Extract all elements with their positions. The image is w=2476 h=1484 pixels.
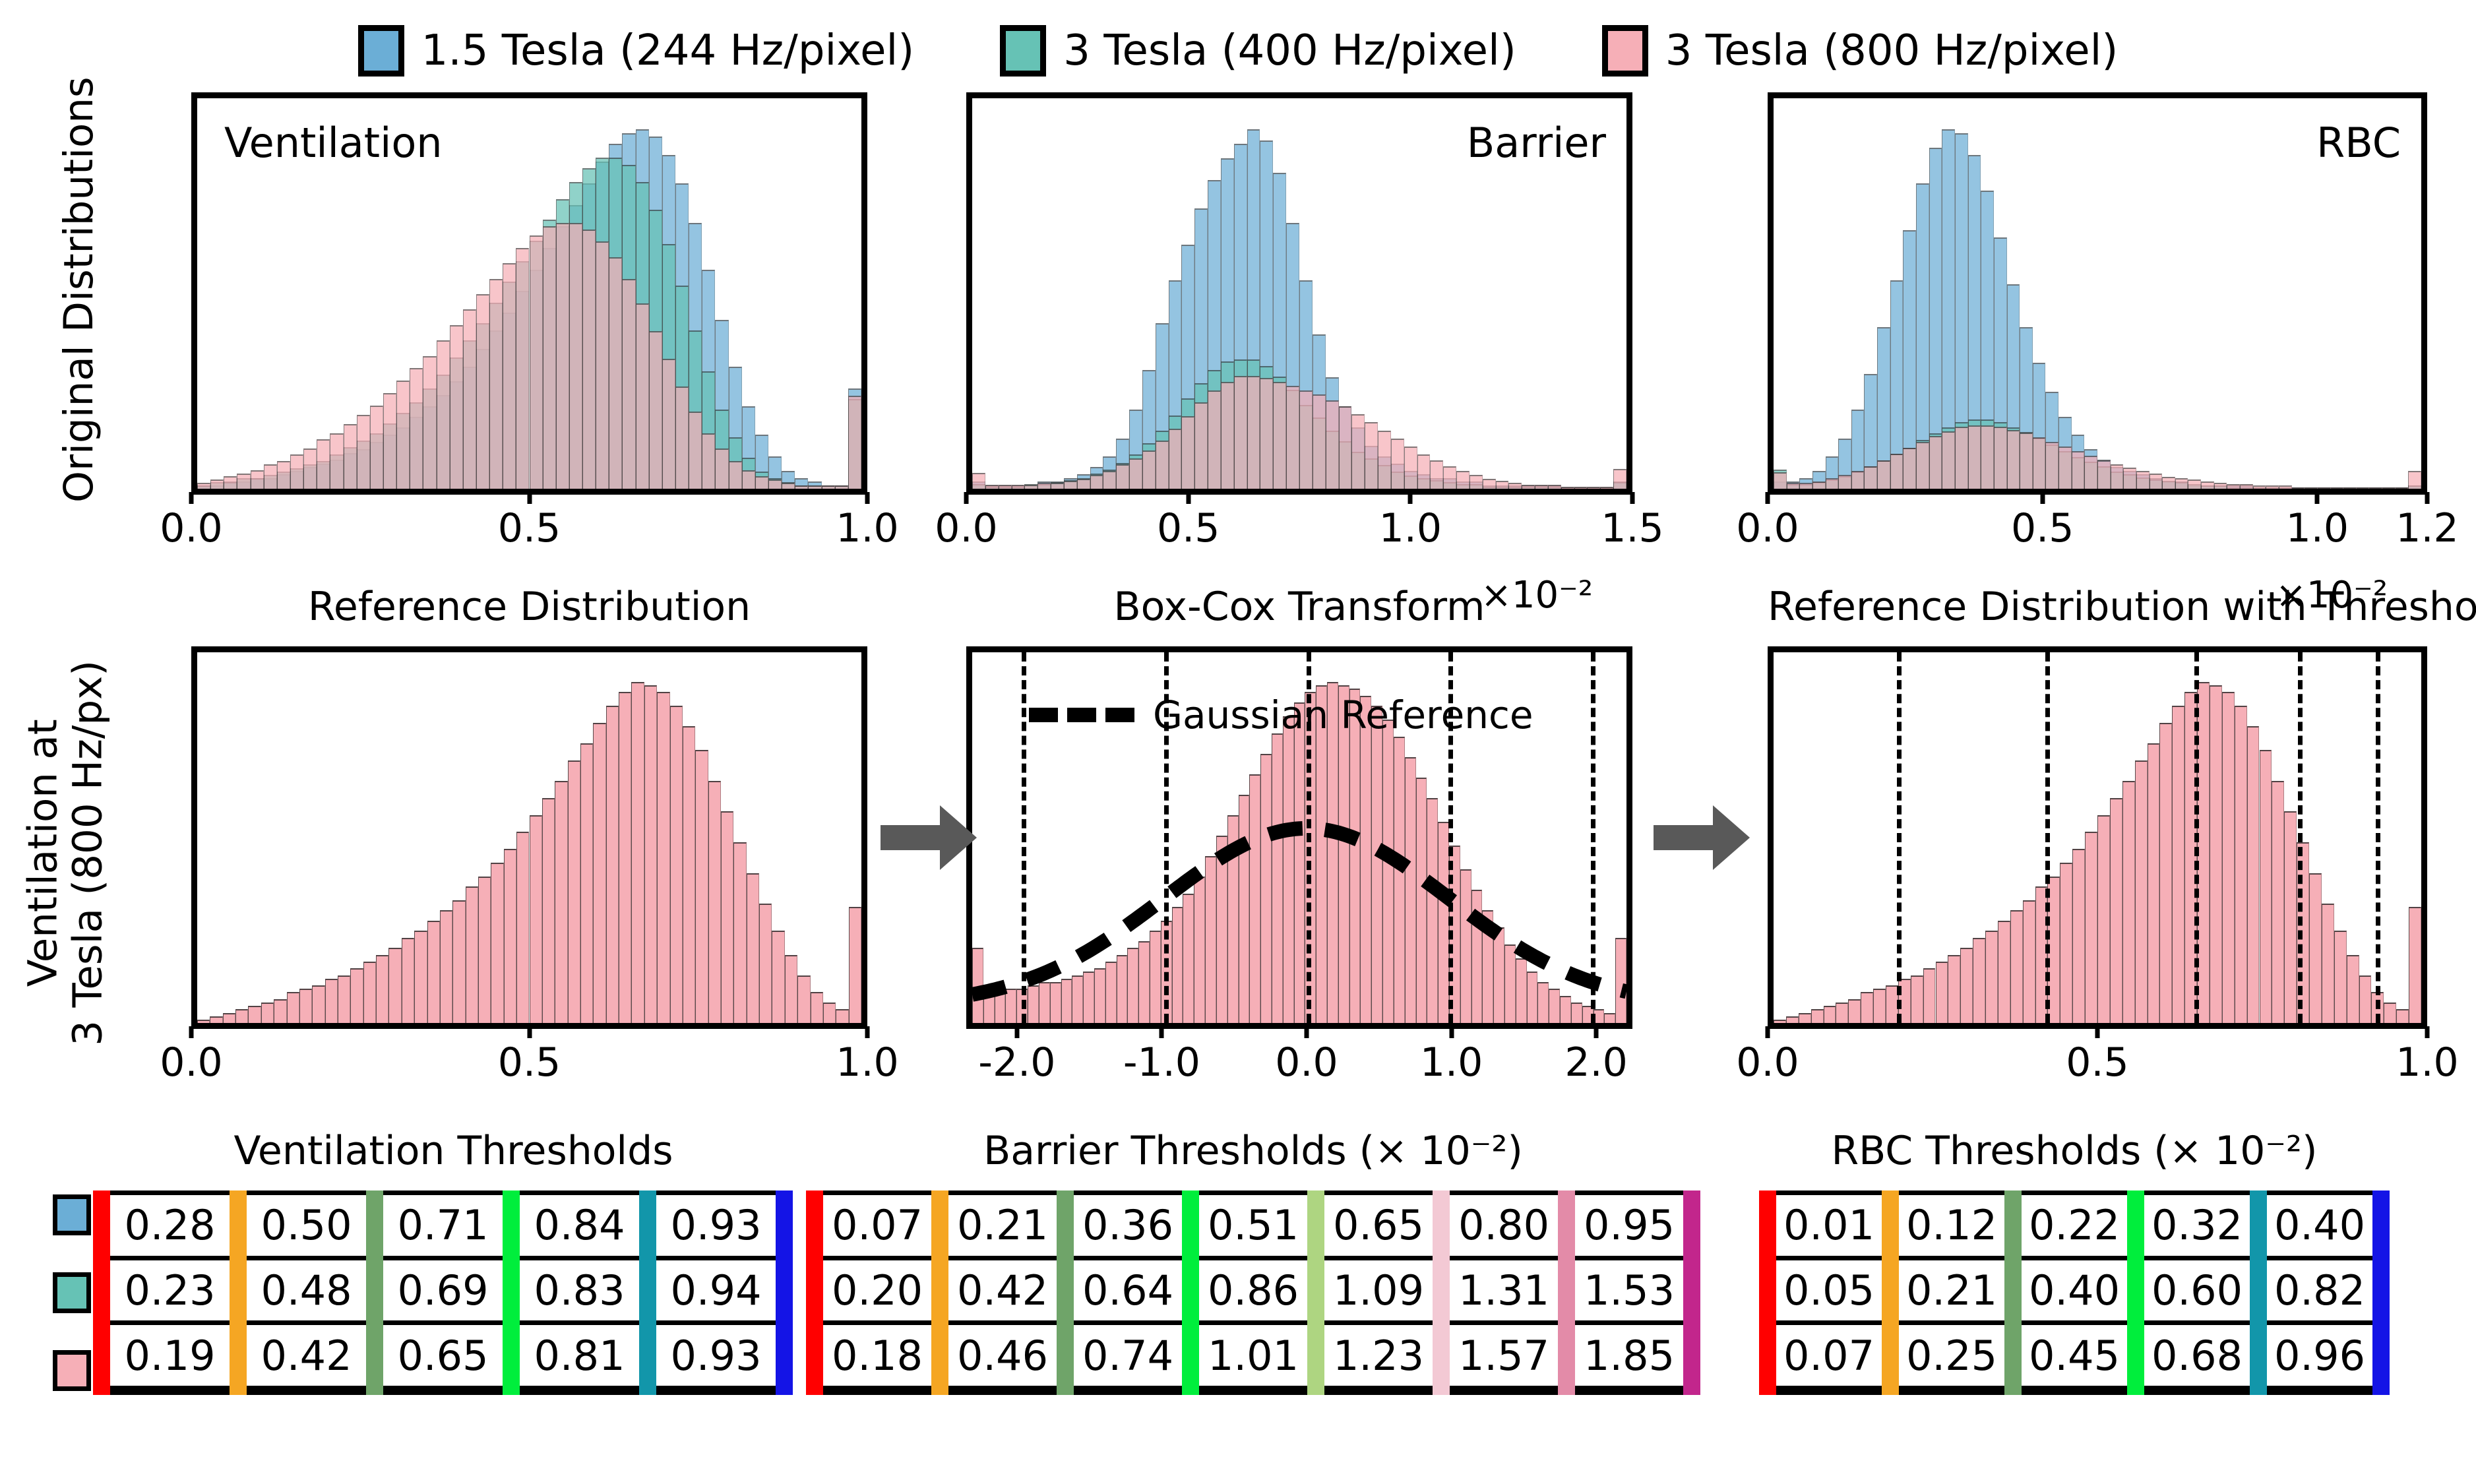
axis-tick <box>865 1026 870 1038</box>
threshold-table-rbc: 0.010.120.220.320.400.050.210.400.600.82… <box>1768 1190 2381 1395</box>
histogram-bar <box>822 485 835 489</box>
table-cell: 0.83 <box>511 1260 648 1321</box>
table-row-swatch-0 <box>53 1194 91 1235</box>
histogram-bar <box>619 692 631 1023</box>
histogram-bar <box>504 849 516 1023</box>
histogram-bar <box>2331 487 2344 489</box>
histogram-bar <box>210 1016 222 1023</box>
histogram-bar <box>675 386 689 489</box>
histogram-bar <box>277 461 290 489</box>
axis-tick <box>1408 492 1413 504</box>
histogram-bar <box>325 979 338 1023</box>
histogram-bar <box>1812 481 1826 489</box>
histogram-bar <box>1351 414 1365 489</box>
table-row: 0.070.250.450.680.96 <box>1768 1325 2381 1390</box>
histogram-bar <box>2227 484 2240 489</box>
bin-color-bar-1 <box>230 1190 247 1395</box>
histogram-bar <box>248 1006 261 1023</box>
histogram-bar <box>1774 472 1787 489</box>
histogram-bar <box>2110 798 2122 1023</box>
flow-arrow-2 <box>1652 801 1751 874</box>
histogram-bar <box>2111 464 2124 489</box>
histogram-bar <box>631 682 644 1023</box>
histogram-bar <box>1234 376 1247 489</box>
histogram-bar <box>1064 481 1077 489</box>
row-label-ventilation-3t800: Ventilation at 3 Tesla (800 Hz/px) <box>21 622 111 1084</box>
histogram-bar <box>1955 427 1968 489</box>
table-cell: 0.94 <box>648 1260 784 1321</box>
table-row-swatches <box>53 1190 91 1395</box>
histogram-bar <box>683 726 695 1023</box>
histogram-bar <box>606 706 619 1023</box>
histogram-bar <box>1103 471 1116 489</box>
histogram-bar <box>437 340 450 489</box>
histogram-bar <box>2172 706 2184 1023</box>
histogram-bar <box>1587 487 1600 489</box>
histogram-bar <box>2309 873 2322 1023</box>
panel-reference-with-thresholds: 0.00.51.0 <box>1768 646 2427 1029</box>
histogram-bar <box>1470 475 1483 489</box>
axis-tick-label: 1.0 <box>836 505 898 551</box>
histogram-bar <box>811 992 823 1023</box>
histogram-bar <box>376 955 388 1023</box>
histogram-bar <box>1948 955 1960 1023</box>
histogram-bar <box>1404 447 1417 489</box>
axis-tick-label: 1.0 <box>1420 1039 1483 1086</box>
histogram-bar <box>2162 477 2175 489</box>
bin-color-bar-0 <box>1759 1190 1776 1395</box>
table-cell: 1.57 <box>1441 1325 1566 1386</box>
histogram-bar <box>1116 464 1129 489</box>
table-cell: 0.84 <box>511 1195 648 1256</box>
table-cell: 0.23 <box>102 1260 238 1321</box>
histogram-bar <box>2159 723 2172 1023</box>
histogram-bar <box>1786 1016 1799 1023</box>
histogram-bar <box>1326 400 1339 489</box>
table-cell: 0.19 <box>102 1325 238 1386</box>
flow-arrow-1 <box>879 801 978 874</box>
axis-tick <box>2040 492 2045 504</box>
histogram-bar <box>582 230 596 489</box>
gaussian-reference-label: Gaussian Reference <box>1153 693 1533 737</box>
histogram-bar <box>1496 481 1509 489</box>
histogram-bar <box>2266 485 2279 489</box>
table-title-barrier: Barrier Thresholds (× 10⁻²) <box>815 1128 1692 1174</box>
histogram-bar <box>1430 460 1443 489</box>
histogram-bar <box>2123 468 2136 489</box>
histogram-bar <box>1024 485 1037 489</box>
axis-tick-label: 1.5 <box>1601 505 1663 551</box>
histogram-bar <box>423 356 436 489</box>
histogram-bar <box>466 886 478 1023</box>
histogram-bar <box>2253 485 2266 489</box>
histogram-bar <box>657 692 669 1023</box>
table-cell: 0.48 <box>238 1260 375 1321</box>
axis-tick <box>1766 1026 1770 1038</box>
histogram-bar <box>2260 750 2272 1023</box>
histogram-bar <box>2210 685 2222 1023</box>
histogram-bar <box>2343 487 2357 489</box>
legend-swatch-3t400 <box>1000 25 1046 77</box>
histogram-bar <box>1273 382 1286 489</box>
histogram-bar <box>1861 992 1873 1023</box>
histogram-bar <box>440 910 452 1023</box>
histogram-bar <box>530 235 543 489</box>
histogram-bar <box>1129 458 1142 489</box>
histogram-bar <box>836 1009 848 1023</box>
histogram-bar <box>312 985 325 1023</box>
histogram-bar <box>835 485 848 489</box>
table-cell: 0.50 <box>238 1195 375 1256</box>
histogram-bar <box>2136 471 2150 489</box>
histogram-bars <box>1774 652 2421 1023</box>
table-cell: 0.60 <box>2136 1260 2258 1321</box>
panel-reference-distribution: 0.00.51.0 <box>191 646 867 1029</box>
histogram-bar <box>1221 382 1234 489</box>
histogram-bar <box>2085 832 2097 1023</box>
table-cell: 1.01 <box>1191 1325 1316 1386</box>
legend-item-1p5t: 1.5 Tesla (244 Hz/pixel) <box>358 25 915 77</box>
histogram-bar <box>2279 485 2292 489</box>
table-cell: 0.01 <box>1768 1195 1890 1256</box>
x-axis: -2.0-1.00.01.02.0 <box>966 1026 1632 1105</box>
axis-tick-label: -2.0 <box>978 1039 1055 1086</box>
histogram-bar <box>568 760 580 1023</box>
histogram-bar <box>1851 471 1865 489</box>
bin-color-bar-4 <box>2250 1190 2267 1395</box>
histogram-bar <box>1313 394 1326 489</box>
histogram-bar <box>2010 910 2023 1023</box>
histogram-bar <box>1903 448 1916 489</box>
histogram-bar <box>1508 483 1522 489</box>
axis-tick-label: 0.0 <box>1736 505 1799 551</box>
histogram-bar <box>715 448 728 489</box>
histogram-bar <box>503 263 516 489</box>
threshold-table-barrier: 0.070.210.360.510.650.800.950.200.420.64… <box>815 1190 1692 1395</box>
table-cell: 0.28 <box>102 1195 238 1256</box>
histogram-bar <box>759 904 772 1023</box>
x-axis: 0.00.51.01.2 <box>1768 492 2427 571</box>
legend-item-3t400: 3 Tesla (400 Hz/pixel) <box>1000 25 1516 77</box>
histogram-bar <box>237 474 250 489</box>
histogram-bar <box>1936 962 1948 1023</box>
histogram-bar <box>317 439 330 489</box>
histogram-bar <box>848 396 861 489</box>
table-cell: 0.65 <box>1316 1195 1441 1256</box>
histogram-bar <box>1787 483 1800 489</box>
histogram-bar <box>609 257 622 489</box>
histogram-bar <box>1548 485 1561 489</box>
histogram-bar <box>2222 692 2235 1023</box>
table-cell: 0.42 <box>238 1325 375 1386</box>
histogram-bar <box>396 381 410 489</box>
histogram-bar <box>1012 485 1025 489</box>
histogram-bar <box>1535 485 1548 489</box>
histogram-bar <box>636 303 649 489</box>
legend-label-3t800: 3 Tesla (800 Hz/pixel) <box>1665 30 2119 72</box>
x-axis: 0.00.51.0 <box>191 1026 867 1105</box>
histogram-bar <box>670 706 683 1023</box>
histogram-bar <box>2396 487 2409 489</box>
histogram-bar <box>2334 931 2347 1023</box>
histogram-bar <box>197 1020 210 1023</box>
threshold-line <box>1897 652 1902 1023</box>
axis-tick <box>1160 1026 1164 1038</box>
plot-area <box>191 646 867 1029</box>
table-cell: 0.22 <box>2013 1195 2136 1256</box>
histogram-bar <box>197 483 210 489</box>
axis-tick <box>189 1026 194 1038</box>
legend-swatch-1p5t <box>358 25 404 77</box>
histogram-bar <box>1998 921 2010 1023</box>
axis-tick-label: -1.0 <box>1123 1039 1200 1086</box>
axis-tick-label: 1.0 <box>2286 505 2349 551</box>
histogram-bar <box>1838 475 1851 489</box>
histogram-bar <box>357 415 370 489</box>
histogram-bar <box>1142 450 1156 489</box>
histogram-bar <box>622 279 635 489</box>
histogram-bar <box>1561 487 1574 489</box>
histogram-bar <box>708 781 721 1023</box>
axis-tick <box>865 492 870 504</box>
bin-color-bar-2 <box>2004 1190 2022 1395</box>
histogram-bar <box>2058 447 2072 489</box>
histogram-bar <box>729 461 742 489</box>
axis-tick <box>1594 1026 1599 1038</box>
table-grid: 0.010.120.220.320.400.050.210.400.600.82… <box>1768 1190 2381 1395</box>
histogram-bar <box>1981 425 1994 489</box>
bin-color-bar-3 <box>1182 1190 1199 1395</box>
table-cell: 0.07 <box>1768 1325 1890 1386</box>
axis-tick-label: 0.0 <box>935 505 997 551</box>
gaussian-reference-legend: Gaussian Reference <box>1029 693 1533 737</box>
panel-tag-ventilation: Ventilation <box>224 119 443 167</box>
histogram-bar <box>1090 475 1103 489</box>
table-cell: 0.64 <box>1065 1260 1191 1321</box>
row-label-line1: Ventilation at <box>21 622 66 1084</box>
histogram-bar <box>695 750 708 1023</box>
histogram-bar <box>2023 900 2035 1023</box>
plot-area <box>1768 646 2427 1029</box>
panel-title-reference-with-thresholds: Reference Distribution with Thresholds <box>1768 584 2427 630</box>
histogram-bar <box>530 815 542 1023</box>
table-row-swatch-1 <box>53 1272 91 1313</box>
axis-tick <box>964 492 969 504</box>
histogram-bar <box>2292 487 2305 489</box>
table-cell: 0.93 <box>648 1195 784 1256</box>
histogram-bar <box>689 412 702 489</box>
histogram-bar <box>1247 376 1260 489</box>
histogram-bar <box>593 723 605 1023</box>
table-cell: 0.82 <box>2258 1260 2381 1321</box>
table-row: 0.010.120.220.320.40 <box>1768 1195 2381 1260</box>
axis-tick <box>527 492 532 504</box>
histogram-bar <box>223 1013 235 1024</box>
bin-color-bar-3 <box>503 1190 520 1395</box>
table-cell: 0.05 <box>1768 1260 1890 1321</box>
histogram-bar <box>2396 1009 2409 1023</box>
histogram-bar <box>768 479 782 489</box>
axis-tick-label: 0.5 <box>2066 1039 2128 1086</box>
histogram-bar <box>1037 483 1051 489</box>
histogram-bars <box>197 652 861 1023</box>
table-cell: 0.42 <box>940 1260 1065 1321</box>
histogram-bar <box>383 393 396 489</box>
histogram-bar <box>1574 487 1588 489</box>
histogram-bar <box>1169 429 1182 489</box>
table-row: 0.050.210.400.600.82 <box>1768 1260 2381 1326</box>
histogram-bar <box>2072 849 2085 1023</box>
panel-box-cox-transform: Gaussian Reference -2.0-1.00.01.02.0 <box>966 646 1632 1029</box>
table-row: 0.230.480.690.830.94 <box>102 1260 784 1326</box>
histogram-bar <box>1613 469 1626 489</box>
table-cell: 1.23 <box>1316 1325 1441 1386</box>
histogram-bar <box>2201 481 2214 489</box>
histogram-bar <box>2240 484 2253 489</box>
histogram-bar <box>2369 487 2382 489</box>
threshold-table-ventilation: 0.280.500.710.840.930.230.480.690.830.94… <box>53 1190 784 1395</box>
histogram-bar <box>402 938 414 1023</box>
panel-rbc-original: RBC 0.00.51.01.2 ×10⁻² <box>1768 92 2427 495</box>
bin-color-bar-4 <box>1307 1190 1324 1395</box>
histogram-bar <box>450 325 463 489</box>
histogram-bar <box>721 811 733 1023</box>
bin-color-bar-0 <box>93 1190 110 1395</box>
histogram-bar <box>1417 454 1431 489</box>
histogram-bar <box>491 863 503 1023</box>
histogram-bar <box>299 989 312 1023</box>
axis-tick-label: 0.5 <box>2011 505 2074 551</box>
histogram-bar <box>2384 1003 2396 1023</box>
axis-tick <box>189 492 194 504</box>
histogram-bar <box>555 781 567 1023</box>
histogram-bar <box>2359 975 2372 1023</box>
table-cell: 0.71 <box>375 1195 511 1256</box>
axis-tick-label: 1.2 <box>2396 505 2458 551</box>
histogram-bar <box>2150 474 2163 489</box>
histogram-bar <box>476 294 489 489</box>
axis-tick-label: 2.0 <box>1564 1039 1627 1086</box>
histogram-bar <box>797 975 810 1023</box>
table-cell: 0.25 <box>1890 1325 2013 1386</box>
table-cell: 0.40 <box>2258 1195 2381 1256</box>
histogram-bar <box>489 279 503 489</box>
histogram-bar <box>2272 781 2284 1023</box>
histogram-bar <box>2318 487 2331 489</box>
histogram-bar <box>2284 811 2297 1023</box>
histogram-bar <box>2135 760 2148 1023</box>
table-cell: 0.86 <box>1191 1260 1316 1321</box>
histogram-bar <box>1181 416 1194 489</box>
histogram-bar <box>224 476 237 489</box>
histogram-bar <box>2072 451 2085 489</box>
histogram-bar <box>264 464 277 489</box>
histogram-bar <box>1483 479 1496 489</box>
histogram-bar <box>290 454 303 489</box>
table-cell: 0.20 <box>815 1260 940 1321</box>
table-title-ventilation: Ventilation Thresholds <box>112 1128 795 1174</box>
histogram-bar <box>733 842 746 1023</box>
histogram-bar <box>1916 442 1929 489</box>
histogram-bar <box>702 433 715 489</box>
histogram-bar <box>1826 478 1839 489</box>
histogram-bar <box>338 975 350 1023</box>
histogram-bar <box>235 1009 248 1023</box>
axis-tick <box>1766 492 1770 504</box>
histogram-bar <box>1811 1009 1824 1023</box>
histogram-bar <box>2122 781 2135 1023</box>
histogram-bar <box>2175 478 2188 489</box>
histogram-bar <box>2020 433 2033 489</box>
threshold-line <box>2045 652 2050 1023</box>
histogram-bar <box>463 309 476 489</box>
histogram-bar <box>2188 479 2201 489</box>
histogram-bar <box>1799 483 1812 489</box>
histogram-bar <box>478 877 491 1023</box>
histogram-bar <box>210 479 224 489</box>
axis-tick <box>2425 1026 2430 1038</box>
bin-color-bar-4 <box>639 1190 656 1395</box>
axis-tick <box>1630 492 1635 504</box>
histogram-bar <box>785 955 797 1023</box>
row-label-line2: 3 Tesla (800 Hz/px) <box>66 622 111 1084</box>
histogram-bar <box>330 433 343 489</box>
table-cell: 0.74 <box>1065 1325 1191 1386</box>
histogram-bar <box>1836 1003 1848 1023</box>
panel-barrier-original: Barrier 0.00.51.01.5 ×10⁻² <box>966 92 1632 495</box>
histogram-bar <box>1973 938 1985 1023</box>
table-cell: 0.81 <box>511 1325 648 1386</box>
table-cell: 0.80 <box>1441 1195 1566 1256</box>
histogram-bar <box>972 473 985 489</box>
axis-tick-label: 0.0 <box>160 505 222 551</box>
histogram-bar <box>747 873 759 1023</box>
histogram-bar <box>999 485 1012 489</box>
histogram-bar <box>1873 989 1886 1023</box>
legend-label-1p5t: 1.5 Tesla (244 Hz/pixel) <box>421 30 915 72</box>
table-cell: 0.40 <box>2013 1260 2136 1321</box>
table-row: 0.190.420.650.810.93 <box>102 1325 784 1390</box>
histogram-bar <box>2097 815 2110 1023</box>
histogram-bar <box>1985 931 1998 1023</box>
histogram-bar <box>1156 441 1169 489</box>
axis-tick <box>1014 1026 1019 1038</box>
figure-legend: 1.5 Tesla (244 Hz/pixel) 3 Tesla (400 Hz… <box>0 15 2476 87</box>
threshold-line <box>2298 652 2303 1023</box>
panel-tag-barrier: Barrier <box>1467 119 1606 167</box>
histogram-bar <box>542 798 555 1023</box>
histogram-bar <box>755 476 768 489</box>
x-axis: 0.00.51.0 <box>191 492 867 571</box>
axis-tick <box>2425 492 2430 504</box>
table-cell: 0.18 <box>815 1325 940 1386</box>
x-axis: 0.00.51.01.5 <box>966 492 1632 571</box>
histogram-bar <box>1378 431 1391 489</box>
table-grid: 0.280.500.710.840.930.230.480.690.830.94… <box>102 1190 784 1395</box>
histogram-bar <box>370 406 383 489</box>
histogram-bar <box>303 448 317 489</box>
panel-title-reference-distribution: Reference Distribution <box>191 584 867 630</box>
histogram-bar <box>1923 968 1936 1023</box>
histogram-bar <box>1299 390 1313 489</box>
histogram-bar <box>795 485 808 489</box>
histogram-bar <box>596 241 609 489</box>
axis-tick-label: 0.5 <box>498 1039 561 1086</box>
histogram-bar <box>2045 442 2058 489</box>
histogram-bar <box>2097 460 2111 489</box>
panel-tag-rbc: RBC <box>2316 119 2401 167</box>
histogram-bar <box>2148 743 2160 1023</box>
